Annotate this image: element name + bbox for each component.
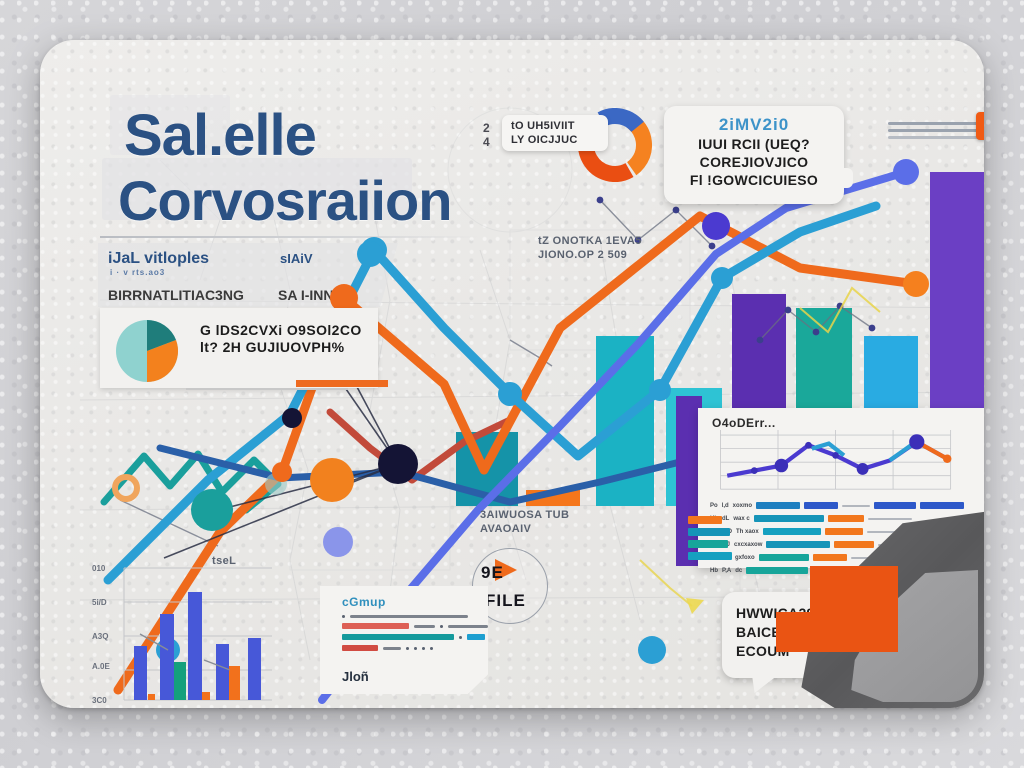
chip xyxy=(763,528,821,535)
cell-col3: cxcxaxow xyxy=(734,542,762,548)
legend-dot-icon xyxy=(430,647,433,650)
side-chip xyxy=(688,540,728,548)
placeholder-line xyxy=(888,136,984,139)
chip xyxy=(759,554,809,561)
panel-line-chart xyxy=(708,430,980,496)
table-row[interactable]: Po l,d xoxmo xyxy=(710,500,978,511)
line xyxy=(842,505,870,507)
side-chip xyxy=(688,516,722,524)
legend-line xyxy=(414,625,435,628)
chip xyxy=(825,528,863,535)
legend-line xyxy=(383,647,401,650)
axis-annotation-line-1: 3AIWUOSA TUB xyxy=(480,508,569,522)
play-icon[interactable] xyxy=(976,112,984,140)
chip xyxy=(834,541,874,548)
panel-label: O4oDErr... xyxy=(712,416,776,430)
orange-accent-bar xyxy=(296,380,388,387)
cell-col1: Hb xyxy=(710,568,718,574)
side-chip xyxy=(688,552,732,560)
side-chip-group xyxy=(688,516,732,564)
chip xyxy=(828,515,864,522)
mini-bar-chart: 010 5i/D A3Q A.0E 3C0 4 c c xyxy=(92,558,378,708)
legend-swatch xyxy=(467,634,485,640)
mini-bar-chart-svg xyxy=(92,558,378,708)
callout-line-1: IUUI RCII (UEQ? xyxy=(674,135,834,153)
chip xyxy=(920,502,964,509)
callout-card[interactable]: 2iMV2i0 IUUI RCII (UEQ? COREJIOVJICO Fl … xyxy=(664,106,844,204)
chip xyxy=(874,502,916,509)
line xyxy=(867,531,897,533)
placeholder-text-lines xyxy=(888,122,984,143)
chip xyxy=(766,541,830,548)
pie-chart xyxy=(114,318,180,384)
cell-col3: Th xaox xyxy=(736,529,759,535)
cell-col3: gxfoxo xyxy=(735,555,755,561)
tooltip-num-bottom: 4 xyxy=(483,135,490,149)
tooltip-num-top: 2 xyxy=(483,121,490,135)
tooltip-box[interactable]: tO UH5IVIIT LY OICJJUC xyxy=(502,115,608,151)
legend-dot-icon xyxy=(440,625,443,628)
cell-col3: wax c xyxy=(733,516,749,522)
callout-heading: 2iMV2i0 xyxy=(674,115,834,135)
tooltip-index-numbers: 2 4 xyxy=(483,121,490,149)
screenshot-root: Sal.elle Corvosraiion iJaL vitloples i ·… xyxy=(0,0,1024,768)
page-curl-orange-accent xyxy=(810,566,898,652)
badge-line-2: FILE xyxy=(485,591,526,611)
side-chip xyxy=(688,528,730,536)
pie-chart-svg xyxy=(114,318,180,384)
callout-line-3: Fl !GOWCICUIESO xyxy=(674,171,834,189)
legend-dot-icon xyxy=(459,636,462,639)
legend-dot-icon xyxy=(406,647,409,650)
cell-col3: xoxmo xyxy=(733,503,752,509)
chart-axis-annotation: 3AIWUOSA TUB AVAOAIV xyxy=(480,508,569,536)
badge-line-1: 9E xyxy=(481,563,504,583)
chip xyxy=(756,502,800,509)
legend-dot-icon xyxy=(422,647,425,650)
cell-col2: P,A xyxy=(722,568,731,574)
axis-annotation-line-2: AVAOAIV xyxy=(480,522,569,536)
tooltip-line-2: LY OICJJUC xyxy=(511,134,608,146)
chip xyxy=(804,502,838,509)
cell-col2: l,d xyxy=(722,503,729,509)
legend-line xyxy=(448,625,488,628)
line xyxy=(868,518,912,520)
tooltip-line-1: tO UH5IVIIT xyxy=(511,120,608,132)
placeholder-line xyxy=(888,129,978,132)
callout-line-2: COREJIOVJICO xyxy=(674,153,834,171)
pie-card-divider xyxy=(186,388,348,390)
chip xyxy=(746,567,808,574)
chart-annotation-center: tZ ONOTKA 1EVA5 JIONO.OP 2 509 xyxy=(538,234,642,262)
annotation-line-1: tZ ONOTKA 1EVA5 xyxy=(538,234,642,248)
annotation-line-2: JIONO.OP 2 509 xyxy=(538,248,642,262)
chip xyxy=(754,515,824,522)
infographic-poster: Sal.elle Corvosraiion iJaL vitloples i ·… xyxy=(40,40,984,708)
legend-dot-icon xyxy=(414,647,417,650)
cell-col3: dc xyxy=(735,568,742,574)
chip xyxy=(813,554,847,561)
cell-col1: Po xyxy=(710,503,718,509)
pie-card-text: G lDS2CVXi O9SOl2CO lt? 2H GUJIUOVPH% xyxy=(200,322,380,356)
placeholder-line xyxy=(888,122,984,125)
